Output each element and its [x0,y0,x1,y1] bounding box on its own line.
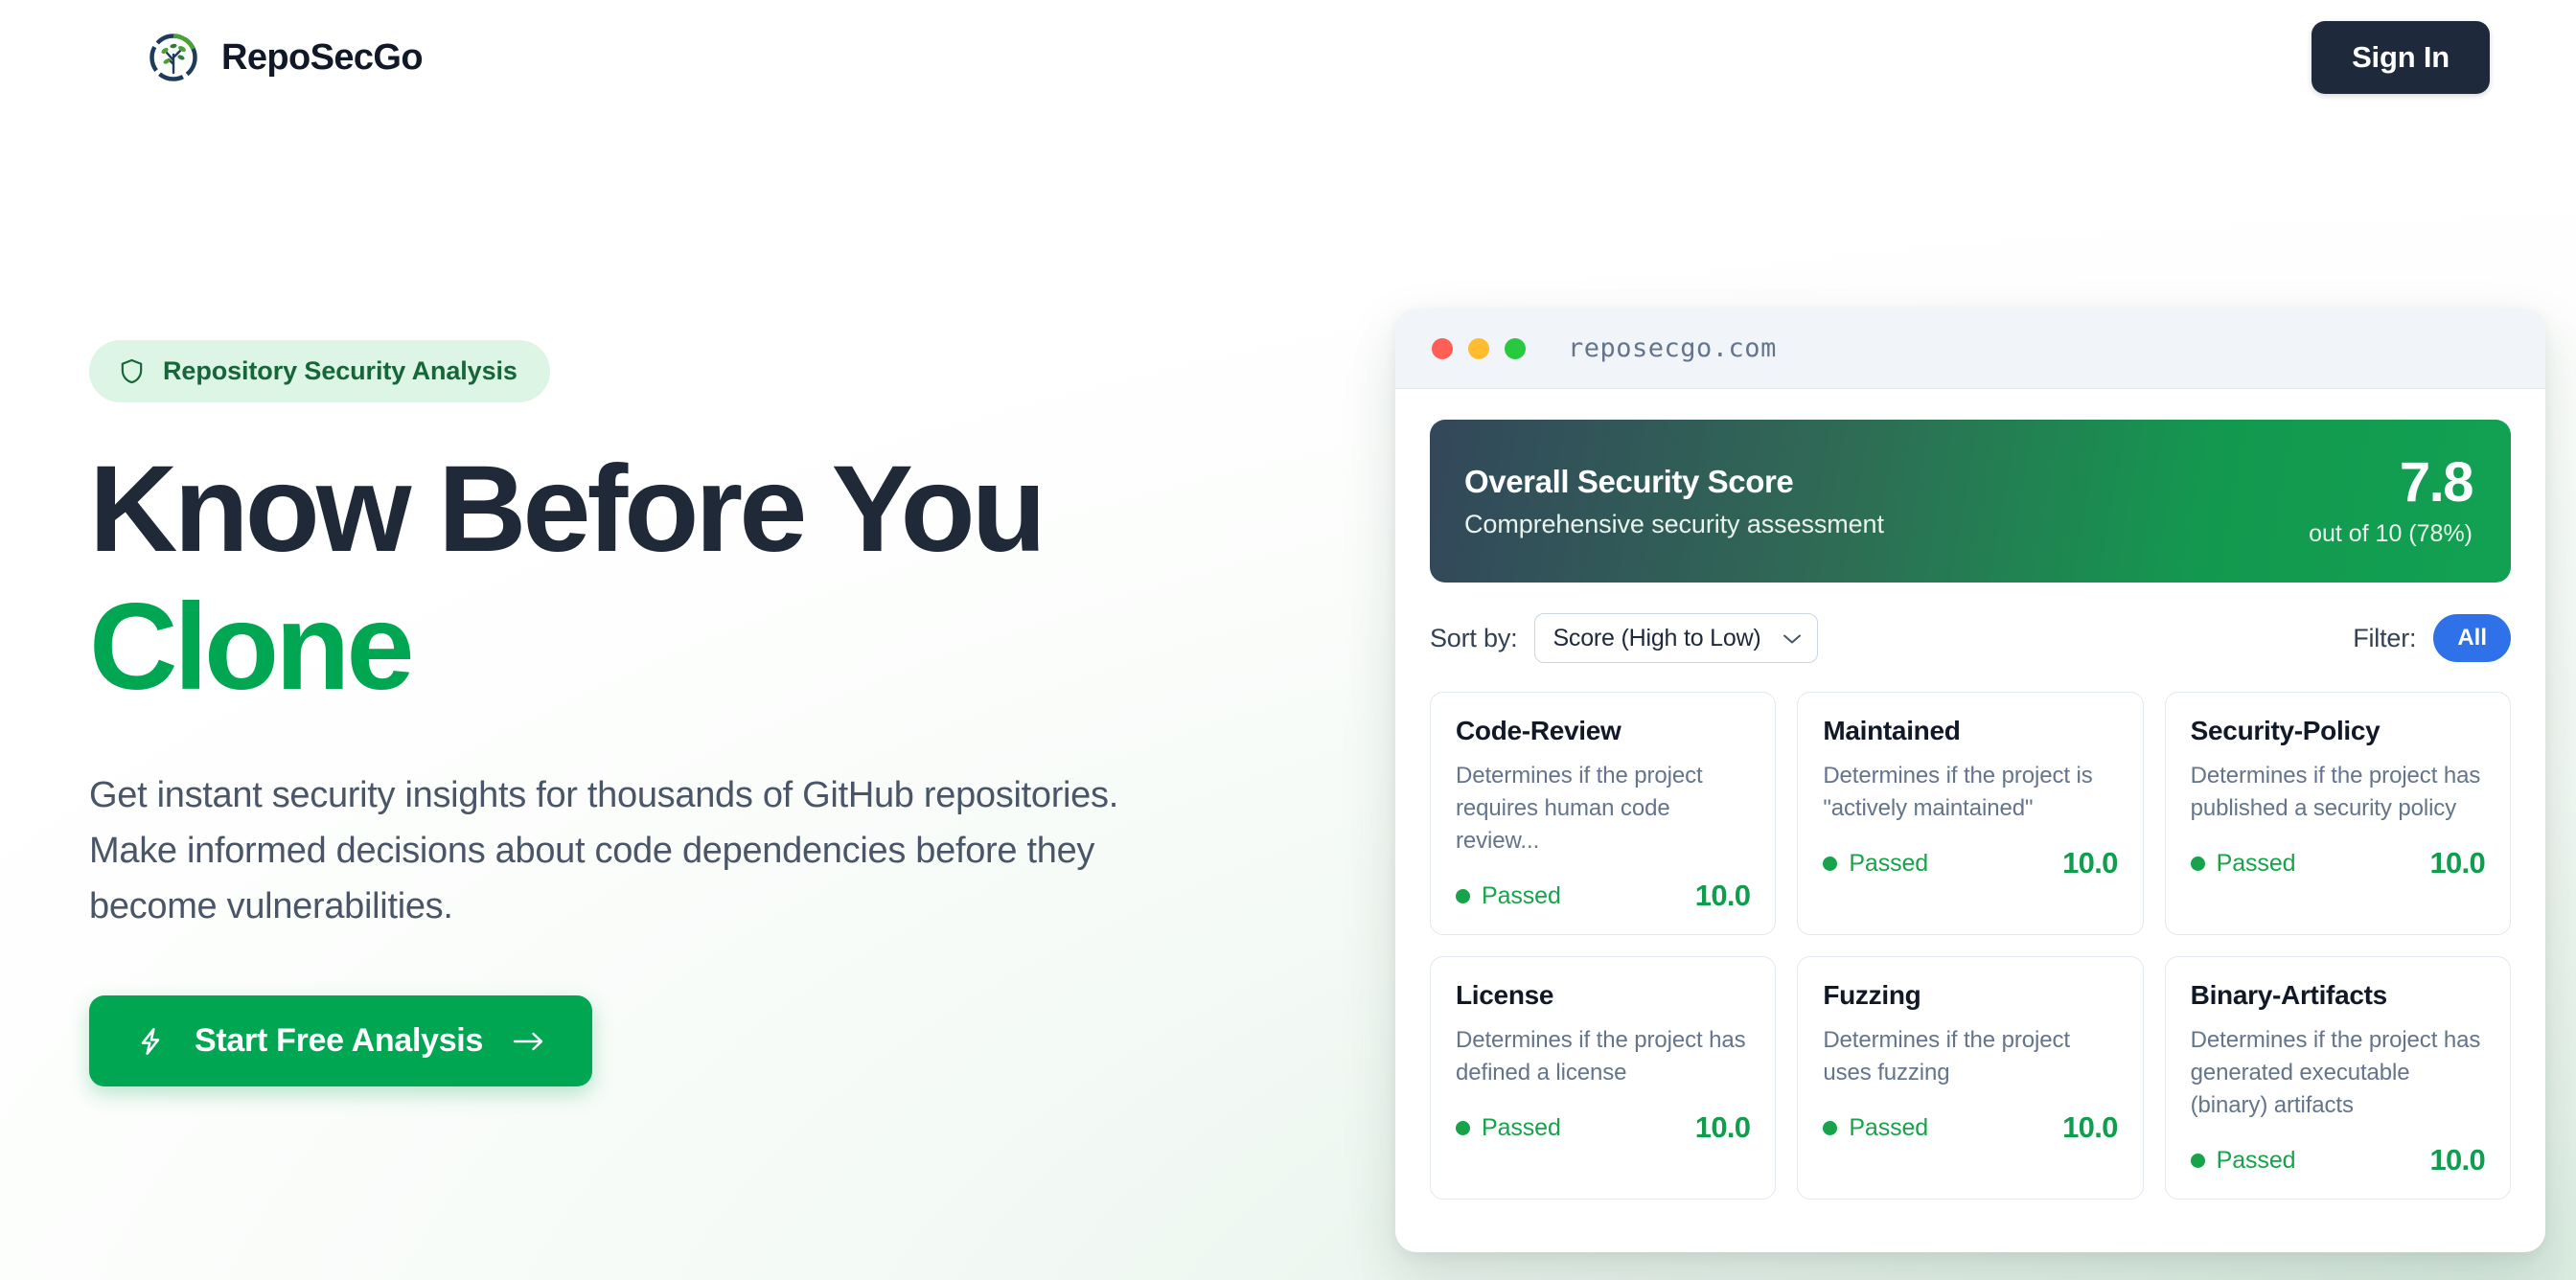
check-status: Passed [1456,882,1561,910]
check-score: 10.0 [2062,846,2118,880]
score-panel-value-group: 7.8 out of 10 (78%) [2309,455,2472,548]
check-card[interactable]: Binary-Artifacts Determines if the proje… [2165,956,2511,1200]
browser-titlebar: reposecgo.com [1395,309,2545,389]
arrow-right-icon [512,1029,546,1054]
sort-group: Sort by: Score (High to Low) [1430,613,1818,663]
check-footer: Passed 10.0 [1456,1110,1750,1145]
shield-icon [118,357,146,385]
check-card[interactable]: License Determines if the project has de… [1430,956,1776,1200]
filter-all-button[interactable]: All [2433,614,2511,662]
check-status: Passed [2191,1147,2296,1175]
check-status-label: Passed [1482,882,1561,910]
check-description: Determines if the project uses fuzzing [1823,1024,2117,1089]
browser-viewport: Overall Security Score Comprehensive sec… [1395,389,2545,1200]
score-panel-subtitle: Comprehensive security assessment [1464,510,1884,539]
check-score: 10.0 [2062,1110,2118,1145]
check-footer: Passed 10.0 [1823,846,2117,880]
filter-group: Filter: All [2353,614,2511,662]
check-status: Passed [1456,1114,1561,1142]
check-status: Passed [2191,850,2296,878]
site-header: RepoSecGo Sign In [0,0,2576,115]
hero-section: Repository Security Analysis Know Before… [89,340,1287,1086]
check-footer: Passed 10.0 [1823,1110,2117,1145]
check-description: Determines if the project has published … [2191,760,2485,825]
check-status-label: Passed [2217,850,2296,878]
check-status-label: Passed [1849,1114,1928,1142]
sort-selected-value: Score (High to Low) [1552,625,1760,652]
window-controls [1432,338,1526,359]
check-title: Code-Review [1456,716,1750,746]
hero-subtitle: Get instant security insights for thousa… [89,768,1153,934]
check-description: Determines if the project has defined a … [1456,1024,1750,1089]
check-description: Determines if the project has generated … [2191,1024,2485,1122]
overall-score-value: 7.8 [2309,455,2472,511]
check-score: 10.0 [1695,879,1751,913]
status-dot-icon [2191,857,2205,871]
check-card[interactable]: Security-Policy Determines if the projec… [2165,692,2511,935]
check-title: Maintained [1823,716,2117,746]
check-description: Determines if the project is "actively m… [1823,760,2117,825]
overall-security-score-panel: Overall Security Score Comprehensive sec… [1430,420,2511,583]
brand[interactable]: RepoSecGo [149,33,423,82]
score-panel-title: Overall Security Score [1464,464,1884,500]
check-title: Binary-Artifacts [2191,980,2485,1011]
browser-mockup: reposecgo.com Overall Security Score Com… [1395,309,2545,1252]
status-dot-icon [1456,889,1470,903]
sort-by-label: Sort by: [1430,624,1517,653]
status-badge: Repository Security Analysis [89,340,550,402]
check-footer: Passed 10.0 [2191,1143,2485,1177]
status-dot-icon [1456,1121,1470,1135]
security-checks-grid: Code-Review Determines if the project re… [1430,692,2511,1200]
sort-select[interactable]: Score (High to Low) [1534,613,1817,663]
check-title: License [1456,980,1750,1011]
sign-in-button[interactable]: Sign In [2311,21,2490,94]
check-description: Determines if the project requires human… [1456,760,1750,857]
cta-label: Start Free Analysis [195,1022,483,1060]
check-status-label: Passed [2217,1147,2296,1175]
check-status-label: Passed [1482,1114,1561,1142]
title-line-1: Know Before You [89,441,1043,578]
chevron-down-icon [1782,632,1802,644]
check-score: 10.0 [2429,1143,2485,1177]
brand-name: RepoSecGo [221,37,423,79]
status-dot-icon [1823,857,1837,871]
page-title: Know Before You Clone [89,448,1287,709]
overall-score-outof: out of 10 (78%) [2309,520,2472,548]
maximize-window-dot-icon[interactable] [1505,338,1526,359]
badge-label: Repository Security Analysis [163,356,517,386]
minimize-window-dot-icon[interactable] [1468,338,1489,359]
check-status: Passed [1823,850,1928,878]
tree-in-circle-logo-icon [149,33,198,82]
check-card[interactable]: Fuzzing Determines if the project uses f… [1797,956,2143,1200]
check-footer: Passed 10.0 [1456,879,1750,913]
check-score: 10.0 [1695,1110,1751,1145]
lightning-bolt-icon [135,1026,166,1057]
score-panel-text: Overall Security Score Comprehensive sec… [1464,464,1884,539]
start-free-analysis-button[interactable]: Start Free Analysis [89,995,592,1086]
status-dot-icon [2191,1154,2205,1168]
close-window-dot-icon[interactable] [1432,338,1453,359]
status-dot-icon [1823,1121,1837,1135]
list-controls: Sort by: Score (High to Low) Filter: All [1430,611,2511,665]
check-card[interactable]: Maintained Determines if the project is … [1797,692,2143,935]
check-status: Passed [1823,1114,1928,1142]
title-line-2: Clone [89,586,1287,709]
check-status-label: Passed [1849,850,1928,878]
check-card[interactable]: Code-Review Determines if the project re… [1430,692,1776,935]
check-score: 10.0 [2429,846,2485,880]
filter-label: Filter: [2353,624,2416,653]
check-title: Security-Policy [2191,716,2485,746]
check-title: Fuzzing [1823,980,2117,1011]
address-bar-url[interactable]: reposecgo.com [1568,333,1777,363]
check-footer: Passed 10.0 [2191,846,2485,880]
